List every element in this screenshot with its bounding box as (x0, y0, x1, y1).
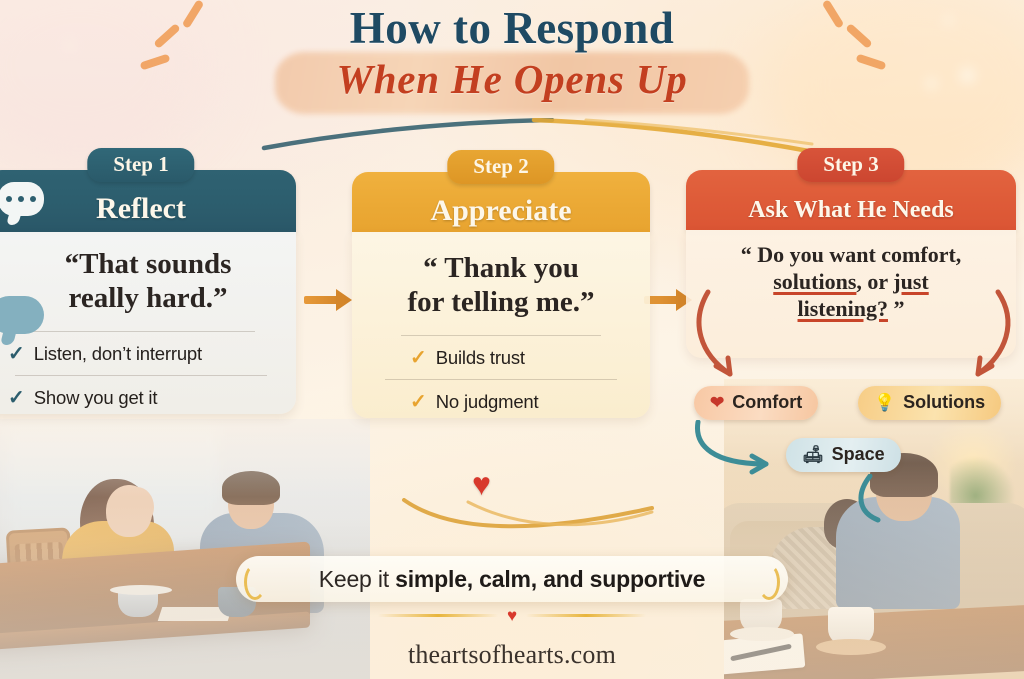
bottom-banner: Keep it simple, calm, and supportive (236, 556, 788, 602)
heart-icon: ❤ (710, 394, 724, 411)
step-3-header: Step 3 Ask What He Needs (686, 170, 1016, 230)
step-2-bullet-2: ✓ No judgment (352, 380, 650, 413)
step-card-3[interactable]: Step 3 Ask What He Needs “ Do you want c… (686, 170, 1016, 358)
title-block: How to Respond When He Opens Up (0, 0, 1024, 150)
page-subtitle: When He Opens Up (0, 55, 1024, 103)
quote-conjunction: , or (856, 269, 893, 294)
step-3-tab: Step 3 (797, 148, 904, 182)
step-1-bullet-2: ✓ Show you get it (0, 376, 296, 409)
emphasis-solutions: solutions (773, 269, 856, 294)
check-icon: ✓ (410, 392, 427, 412)
check-icon: ✓ (410, 348, 427, 368)
step-1-bullet-1: ✓ Listen, don’t interrupt (0, 332, 296, 365)
step-1-quote: “That sounds really hard.” (0, 232, 296, 315)
chip-comfort[interactable]: ❤ Comfort (694, 386, 818, 420)
step-1-body: “That sounds really hard.” ✓ Listen, don… (0, 232, 296, 414)
step-2-bullet-1: ✓ Builds trust (352, 336, 650, 369)
step-2-header: Step 2 Appreciate (352, 172, 650, 232)
step-1-bullet-2-label: Show you get it (34, 387, 158, 409)
chip-space[interactable]: 🛋 Space (786, 438, 901, 472)
step-3-quote-line3: listening? ” (698, 296, 1004, 323)
step-2-body: “ Thank you for telling me.” ✓ Builds tr… (352, 232, 650, 418)
step-1-tab: Step 1 (87, 148, 194, 182)
step-2-title: Appreciate (352, 194, 650, 228)
step-3-body: “ Do you want comfort, solutions, or jus… (686, 230, 1016, 358)
step-3-title: Ask What He Needs (686, 197, 1016, 224)
infographic-canvas: How to Respond When He Opens Up Step 1 R… (0, 0, 1024, 679)
banner-left-paren-icon (244, 564, 266, 600)
speech-bubble-icon (0, 296, 44, 334)
lightbulb-icon: 💡 (874, 394, 895, 411)
step-card-2[interactable]: Step 2 Appreciate “ Thank you for tellin… (352, 172, 650, 418)
heart-icon: ♥ (472, 468, 491, 500)
step-1-bullet-1-label: Listen, don’t interrupt (34, 343, 202, 365)
step-2-quote-line2: for telling me.” (364, 286, 638, 320)
step-card-1[interactable]: Step 1 Reflect “That sounds really hard.… (0, 170, 296, 414)
step-3-quote: “ Do you want comfort, solutions, or jus… (686, 230, 1016, 322)
bench-icon: 🛋 (802, 446, 824, 463)
step-2-bullet-2-label: No judgment (436, 391, 539, 413)
photo-couple-on-couch (724, 379, 1024, 679)
banner-prefix: Keep it (319, 566, 395, 592)
banner-text: Keep it simple, calm, and supportive (319, 566, 706, 593)
step-1-quote-line2: really hard.” (10, 282, 286, 316)
footer-url[interactable]: theartsofhearts.com (0, 640, 1024, 670)
emphasis-just: just (893, 269, 928, 294)
check-icon: ✓ (8, 388, 25, 408)
step-1-header: Step 1 Reflect (0, 170, 296, 232)
separator-heart-icon: ♥ (0, 606, 1024, 626)
chip-solutions[interactable]: 💡 Solutions (858, 386, 1001, 420)
chip-solutions-label: Solutions (903, 392, 985, 413)
step-2-quote: “ Thank you for telling me.” (352, 232, 650, 319)
step-2-quote-line1: “ Thank you (364, 252, 638, 286)
step-1-title: Reflect (0, 192, 296, 226)
check-icon: ✓ (8, 344, 25, 364)
page-title: How to Respond (0, 0, 1024, 51)
step-2-tab: Step 2 (447, 150, 554, 184)
banner-emphasis: simple, calm, and supportive (395, 566, 705, 592)
emphasis-listening: listening? (798, 296, 888, 321)
step-2-bullet-1-label: Builds trust (436, 347, 525, 369)
step-3-quote-line2: solutions, or just (698, 269, 1004, 296)
quote-close: ” (888, 296, 905, 321)
step-3-quote-line1: “ Do you want comfort, (698, 242, 1004, 269)
banner-right-paren-icon (758, 564, 780, 600)
step-1-quote-line1: “That sounds (10, 248, 286, 282)
chip-comfort-label: Comfort (732, 392, 802, 413)
chip-space-label: Space (832, 444, 885, 465)
